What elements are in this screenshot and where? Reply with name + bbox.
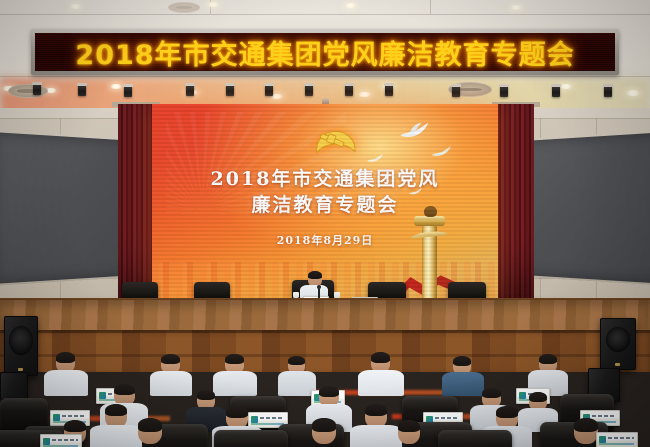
- dove-icon: [398, 120, 430, 142]
- nameplate-text: [52, 439, 78, 441]
- speaker-woofer: [606, 327, 630, 352]
- person-head: [312, 418, 336, 444]
- person-torso: [358, 370, 404, 396]
- stage-screen-date: 2018年8月29日: [152, 232, 498, 248]
- stage-curtain-right: [496, 104, 534, 304]
- person-hair: [197, 390, 215, 400]
- track-spotlight: [78, 85, 86, 96]
- track-spotlight: [452, 86, 460, 97]
- nameplate-logo: [43, 438, 50, 445]
- presider-hair: [308, 271, 322, 279]
- speaker-badge: [18, 368, 22, 371]
- nameplate-text: [592, 415, 616, 417]
- person-hair: [496, 406, 518, 418]
- pa-speaker-left: [4, 316, 38, 376]
- conference-hall-photo: 2018年市交通集团党风廉洁教育专题会: [0, 0, 650, 447]
- ceiling-seam: [430, 0, 431, 14]
- dove-icon: [430, 144, 452, 160]
- track-spotlight: [385, 85, 393, 96]
- audience-person: [358, 352, 404, 396]
- nameplate-text: [435, 417, 459, 419]
- nameplate-logo: [599, 436, 606, 443]
- person-torso: [44, 370, 88, 396]
- person-hair: [56, 352, 75, 363]
- person-hair: [482, 388, 501, 398]
- track-spotlight: [604, 86, 612, 97]
- downlight: [207, 2, 219, 7]
- downlight: [70, 4, 81, 9]
- track-spotlight: [186, 85, 194, 96]
- audience-person: [386, 420, 432, 447]
- audience-seat: [438, 430, 512, 447]
- track-spotlight: [345, 85, 353, 96]
- person-hair: [539, 354, 557, 364]
- track-spotlight: [226, 85, 234, 96]
- person-hair: [288, 356, 305, 365]
- downlight: [626, 90, 640, 96]
- nameplate-text: [608, 437, 634, 439]
- downlight: [510, 5, 522, 10]
- person-hair: [529, 392, 547, 402]
- person-hair: [226, 406, 248, 418]
- air-vent: [168, 2, 200, 13]
- speaker-woofer: [9, 326, 32, 355]
- nameplate-text: [62, 415, 86, 417]
- track-spotlight: [552, 86, 560, 97]
- downlight: [358, 92, 371, 97]
- person-hair: [225, 354, 244, 364]
- stage-screen-title: 2018年市交通集团党风 廉洁教育专题会: [152, 166, 498, 218]
- desk-nameplate: [596, 432, 638, 447]
- desk-nameplate: [40, 434, 82, 447]
- ceiling-seam: [0, 76, 650, 77]
- person-hair: [64, 420, 86, 432]
- audience-person: [298, 418, 348, 447]
- acoustic-panel-right: [517, 130, 650, 286]
- person-head: [574, 418, 598, 444]
- nameplate-accent: [599, 443, 634, 445]
- person-hair: [365, 404, 387, 416]
- downlight: [110, 84, 122, 89]
- person-hair: [453, 356, 471, 366]
- nameplate-text: [260, 417, 284, 419]
- downlight: [560, 84, 572, 89]
- speaker-badge: [615, 363, 620, 366]
- stage-title-line1: 2018年市交通集团党风: [211, 168, 440, 190]
- person-hair: [312, 418, 336, 432]
- person-hair: [114, 384, 135, 395]
- wood-trim: [0, 330, 650, 333]
- stage-curtain-left: [118, 104, 154, 304]
- person-hair: [398, 420, 420, 432]
- person-head: [138, 418, 162, 444]
- led-banner-text: 2018年市交通集团党风廉洁教育专题会: [75, 33, 574, 71]
- party-emblem-icon: [308, 122, 364, 164]
- dove-icon: [366, 152, 384, 165]
- track-spotlight: [500, 86, 508, 97]
- ceiling-seam: [0, 14, 650, 15]
- pa-speaker-left-lower: [0, 372, 28, 400]
- person-hair: [161, 354, 180, 364]
- led-banner: 2018年市交通集团党风廉洁教育专题会: [31, 29, 619, 75]
- audience-seat: [214, 430, 288, 447]
- person-head: [398, 420, 420, 444]
- pa-speaker-right: [600, 318, 636, 370]
- person-hair: [105, 404, 127, 416]
- person-hair: [319, 386, 339, 397]
- huabiao-column: [410, 204, 448, 300]
- person-hair: [574, 418, 598, 432]
- led-banner-screen: 2018年市交通集团党风廉洁教育专题会: [35, 33, 615, 71]
- person-hair: [371, 352, 390, 363]
- track-spotlight: [305, 85, 313, 96]
- downlight: [345, 3, 356, 8]
- track-spotlight: [33, 84, 41, 95]
- audience-person: [124, 418, 174, 447]
- stage-title-line2: 廉洁教育专题会: [152, 192, 498, 218]
- air-vent: [8, 84, 48, 98]
- track-spotlight: [124, 86, 132, 97]
- track-spotlight: [265, 85, 273, 96]
- person-hair: [138, 418, 162, 432]
- audience-person: [44, 352, 88, 396]
